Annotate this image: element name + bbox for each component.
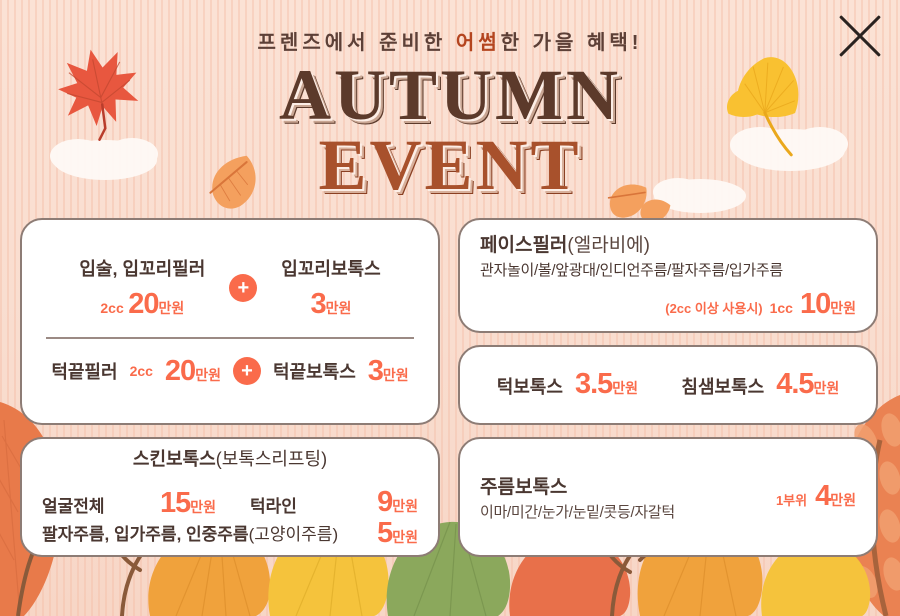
lip-botox-price-unit: 만원 [326,300,352,316]
jaw-botox-price-num: 3.5 [575,368,612,400]
wrinkle-botox-price-wrap: 1부위 4만원 [776,480,856,513]
face-filler-price-num: 10 [800,288,830,320]
face-filler-title-main: 페이스필러 [480,235,567,256]
wrinkle-botox-price: 4만원 [815,480,856,513]
kicker-highlight: 어썸 [456,32,501,54]
kicker-text: 프렌즈에서 준비한 어썸한 가을 혜택! [0,26,900,55]
face-filler-price-row: (2cc 이상 사용시) 1cc 10만원 [480,288,856,321]
skin-botox-wrinkle-label: 팔자주름, 입가주름, 인중주름 [42,520,249,545]
lip-filler-volume: 2cc [100,300,123,316]
chin-combo-row: 턱끝필러 2cc 20만원 + 턱끝보톡스 3만원 [42,355,418,388]
lip-filler-price-unit: 만원 [158,300,184,316]
headline-block: 프렌즈에서 준비한 어썸한 가을 혜택! AUTUMN EVENT [0,0,900,200]
lip-filler-price: 20만원 [128,300,184,317]
lip-botox-price-wrap: 3만원 [281,288,380,321]
page-title-autumn: AUTUMN [0,61,900,129]
lip-combo-row: 입술, 입꼬리필러 2cc 20만원 + 입꼬리보톡스 3만원 [42,255,418,321]
skin-botox-prices: 9만원 5만원 [344,487,418,548]
skin-botox-jawline-price-num: 9 [377,486,392,518]
chin-filler-volume: 2cc [130,363,153,379]
skin-botox-full-face-price-unit: 만원 [190,499,216,515]
wrinkle-botox-title: 주름보톡스 [480,472,675,499]
face-filler-title: 페이스필러(엘라비에) [480,230,856,257]
face-filler-price-unit: 만원 [830,300,856,316]
face-filler-price: 10만원 [800,288,856,321]
lip-botox-price: 3만원 [311,300,352,317]
skin-botox-wrinkle-paren: (고양이주름) [249,520,339,545]
plus-icon-chin: + [233,357,261,385]
skin-botox-title-main: 스킨보톡스 [133,449,216,469]
lip-botox-block: 입꼬리보톡스 3만원 [281,255,380,321]
wrinkle-botox-price-unit: 만원 [830,492,856,508]
plus-icon: + [229,274,257,302]
chin-botox-price: 3만원 [368,355,409,388]
lip-botox-price-num: 3 [311,288,326,320]
wrinkle-botox-unit-label: 1부위 [776,490,807,509]
jaw-botox-price: 3.5만원 [575,368,638,401]
chin-filler-price: 20만원 [165,355,221,388]
jaw-botox-label: 턱보톡스 [497,373,563,399]
wrinkle-botox-row: 주름보톡스 이마/미간/눈가/눈밑/콧등/자갈턱 1부위 4만원 [480,472,856,522]
face-filler-title-paren: (엘라비에) [567,235,650,256]
skin-botox-full-face-price-num: 15 [160,487,190,519]
card-jaw-botox[interactable]: 턱보톡스 3.5만원 침샘보톡스 4.5만원 [458,345,878,425]
lip-botox-label: 입꼬리보톡스 [281,255,380,281]
face-filler-volume: 1cc [770,300,793,316]
chin-filler-price-num: 20 [165,355,195,387]
skin-botox-line-2: 팔자주름, 입가주름, 인중주름(고양이주름) [42,520,344,545]
skin-botox-line-1: 얼굴전체 15만원 턱라인 [42,487,344,520]
jaw-botox-price-unit: 만원 [612,380,638,396]
salivary-botox-price-num: 4.5 [776,368,813,400]
page-title-event: EVENT [0,131,900,199]
lip-filler-label: 입술, 입꼬리필러 [79,255,205,281]
skin-botox-title-paren: (보톡스리프팅) [216,449,327,469]
card-wrinkle-botox[interactable]: 주름보톡스 이마/미간/눈가/눈밑/콧등/자갈턱 1부위 4만원 [458,437,878,557]
salivary-botox-item: 침샘보톡스 4.5만원 [681,368,839,401]
chin-filler-label: 턱끝필러 [51,358,117,384]
skin-botox-labels: 얼굴전체 15만원 턱라인 팔자주름, 입가주름, 인중주름(고양이주름) [42,487,344,545]
salivary-botox-label: 침샘보톡스 [681,373,764,399]
jaw-botox-row: 턱보톡스 3.5만원 침샘보톡스 4.5만원 [480,368,856,401]
skin-botox-wrinkle-price: 5만원 [344,518,418,548]
lip-filler-block: 입술, 입꼬리필러 2cc 20만원 [79,255,205,321]
face-filler-areas: 관자놀이/볼/앞광대/인디언주름/팔자주름/입가주름 [480,259,856,280]
skin-botox-wrinkle-price-unit: 만원 [392,529,418,545]
face-filler-note: (2cc 이상 사용시) [665,298,762,317]
wrinkle-botox-areas: 이마/미간/눈가/눈밑/콧등/자갈턱 [480,501,675,522]
skin-botox-body: 얼굴전체 15만원 턱라인 팔자주름, 입가주름, 인중주름(고양이주름) 9만… [42,487,418,548]
salivary-botox-price-unit: 만원 [814,380,840,396]
skin-botox-jawline-price-unit: 만원 [392,498,418,514]
chin-filler-price-unit: 만원 [195,367,221,383]
lip-filler-price-wrap: 2cc 20만원 [79,288,205,321]
kicker-pre: 프렌즈에서 준비한 [258,32,456,54]
skin-botox-full-face-label: 얼굴전체 [42,492,160,517]
chin-botox-price-unit: 만원 [383,367,409,383]
skin-botox-wrinkle-price-num: 5 [377,517,392,549]
wrinkle-botox-price-num: 4 [815,480,830,512]
card-lip-chin-combo[interactable]: 입술, 입꼬리필러 2cc 20만원 + 입꼬리보톡스 3만원 [20,218,440,425]
close-button[interactable] [834,10,886,62]
skin-botox-full-face-price: 15만원 [160,487,216,520]
autumn-event-banner: 프렌즈에서 준비한 어썸한 가을 혜택! AUTUMN EVENT 페이스필러(… [0,0,900,616]
skin-botox-jawline-price: 9만원 [344,487,418,517]
lip-filler-price-num: 20 [128,288,158,320]
kicker-post: 한 가을 혜택! [501,32,643,54]
skin-botox-title: 스킨보톡스(보톡스리프팅) [42,445,418,478]
wrinkle-botox-info: 주름보톡스 이마/미간/눈가/눈밑/콧등/자갈턱 [480,472,675,522]
chin-botox-label: 턱끝보톡스 [273,358,356,384]
chin-botox-price-num: 3 [368,355,383,387]
card-skin-botox[interactable]: 스킨보톡스(보톡스리프팅) 얼굴전체 15만원 턱라인 팔자주름, 입가주름, … [20,437,440,557]
jaw-botox-item: 턱보톡스 3.5만원 [497,368,638,401]
combo-divider [46,337,414,339]
card-face-filler[interactable]: 페이스필러(엘라비에) 관자놀이/볼/앞광대/인디언주름/팔자주름/입가주름 (… [458,218,878,333]
salivary-botox-price: 4.5만원 [776,368,839,401]
promotion-card-grid: 페이스필러(엘라비에) 관자놀이/볼/앞광대/인디언주름/팔자주름/입가주름 (… [0,218,900,557]
skin-botox-jawline-label: 턱라인 [250,492,297,517]
